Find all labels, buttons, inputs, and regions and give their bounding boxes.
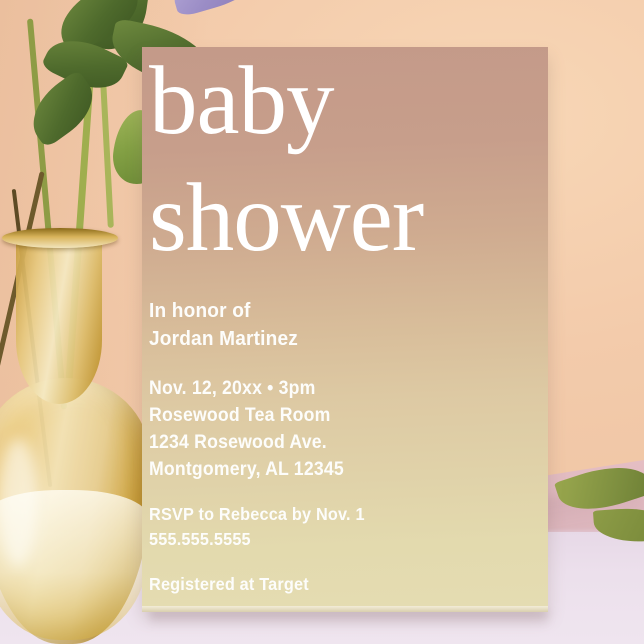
card-title: baby shower: [149, 53, 543, 265]
rsvp-block: RSVP to Rebecca by Nov. 1 555.555.5555: [149, 502, 529, 552]
photo-scene: baby shower In honor of Jordan Martinez …: [0, 0, 644, 644]
event-street-address: 1234 Rosewood Ave.: [149, 429, 502, 456]
card-title-line-1: baby: [149, 53, 543, 148]
card-paper-edge: [142, 606, 548, 612]
event-date-time: Nov. 12, 20xx • 3pm: [149, 375, 502, 402]
invitation-card-content: baby shower In honor of Jordan Martinez …: [142, 47, 548, 609]
registry-block: Registered at Target: [149, 572, 529, 597]
glass-vase-with-stems: [0, 228, 164, 644]
honoree-label: In honor of: [149, 297, 502, 325]
rsvp-instruction: RSVP to Rebecca by Nov. 1: [149, 502, 502, 527]
vase-neck: [16, 236, 102, 404]
honoree-name: Jordan Martinez: [149, 325, 502, 353]
event-details-block: Nov. 12, 20xx • 3pm Rosewood Tea Room 12…: [149, 375, 529, 484]
purple-flower-petal: [168, 0, 267, 18]
registry-text: Registered at Target: [149, 572, 502, 597]
rsvp-phone: 555.555.5555: [149, 527, 502, 552]
event-venue: Rosewood Tea Room: [149, 402, 502, 429]
honoree-block: In honor of Jordan Martinez: [149, 297, 529, 352]
card-drop-shadow: [150, 610, 548, 626]
card-title-line-2: shower: [149, 170, 543, 265]
event-city-state-zip: Montgomery, AL 12345: [149, 456, 502, 483]
invitation-card[interactable]: baby shower In honor of Jordan Martinez …: [142, 47, 548, 609]
